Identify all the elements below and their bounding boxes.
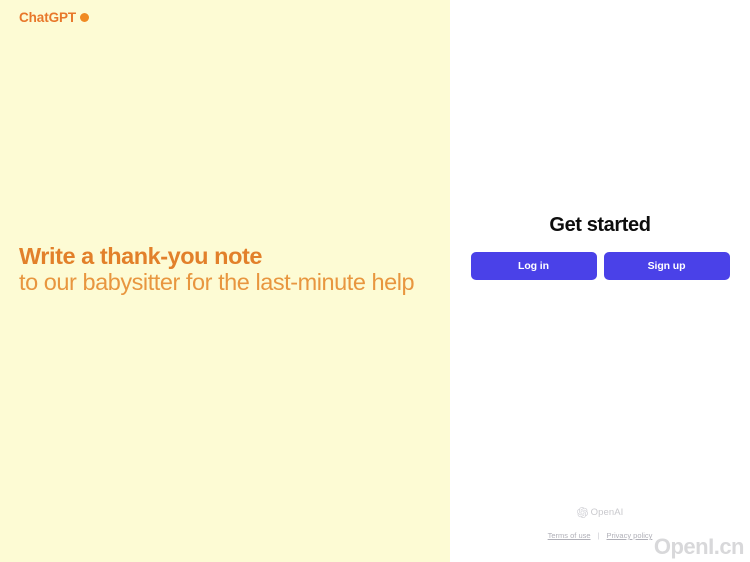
privacy-policy-link[interactable]: Privacy policy xyxy=(607,531,653,540)
footer-separator: | xyxy=(598,531,600,540)
filled-circle-icon xyxy=(80,13,89,22)
promo-text: Write a thank-you note to our babysitter… xyxy=(19,243,419,295)
openai-logo-text: OpenAI xyxy=(591,507,624,518)
promo-headline: Write a thank-you note xyxy=(19,243,419,269)
signup-button[interactable]: Sign up xyxy=(604,252,730,280)
brand-name: ChatGPT xyxy=(19,11,76,25)
promo-panel: ChatGPT Write a thank-you note to our ba… xyxy=(0,0,450,562)
page-title: Get started xyxy=(450,213,750,237)
promo-subline: to our babysitter for the last-minute he… xyxy=(19,269,419,295)
terms-of-use-link[interactable]: Terms of use xyxy=(548,531,591,540)
footer-links: Terms of use | Privacy policy xyxy=(450,531,750,540)
openai-branding: OpenAI xyxy=(450,507,750,518)
login-page: ChatGPT Write a thank-you note to our ba… xyxy=(0,0,750,562)
auth-panel: Get started Log in Sign up OpenAI Terms … xyxy=(450,0,750,562)
openai-logo-icon xyxy=(577,507,588,518)
auth-button-group: Log in Sign up xyxy=(450,252,750,280)
auth-block: Get started Log in Sign up xyxy=(450,213,750,280)
chatgpt-brand: ChatGPT xyxy=(19,11,89,25)
footer: OpenAI Terms of use | Privacy policy xyxy=(450,507,750,540)
login-button[interactable]: Log in xyxy=(471,252,597,280)
